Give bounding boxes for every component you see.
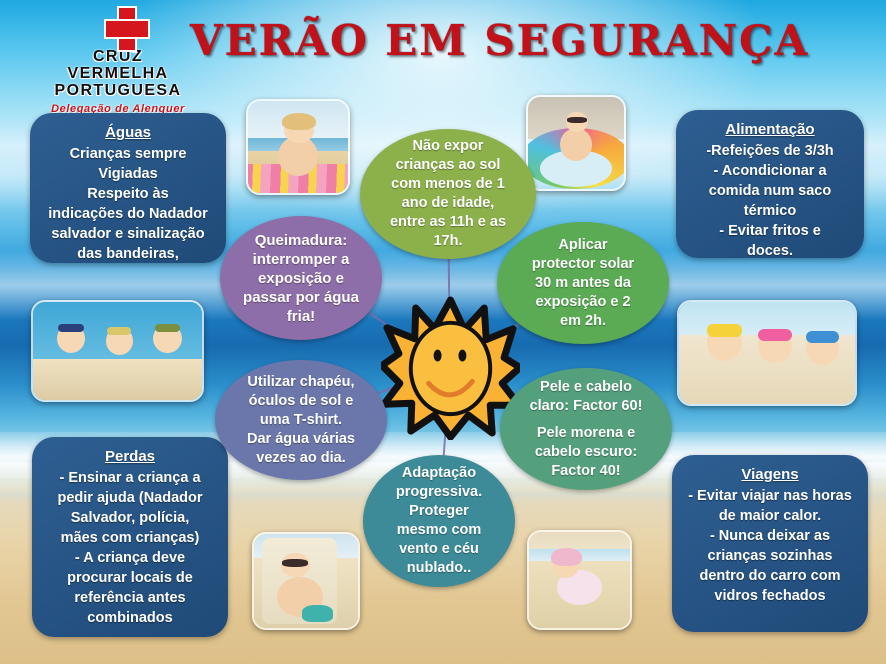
oval-pele-line-5: Factor 40! bbox=[530, 462, 643, 481]
photo-baby-in-pool bbox=[526, 95, 626, 191]
panel-aguas-line-5: salvador e sinalização bbox=[42, 224, 214, 244]
oval-adaptacao: Adaptação progressiva. Proteger mesmo co… bbox=[363, 455, 515, 587]
panel-alimentacao-title: Alimentação bbox=[688, 120, 852, 140]
oval-queimadura: Queimadura: interromper a exposição e pa… bbox=[220, 216, 382, 340]
oval-adaptacao-line-4: mesmo com bbox=[396, 521, 482, 540]
oval-chapeu-line-2: óculos de sol e bbox=[247, 392, 355, 411]
photo-girl-on-lounger bbox=[252, 532, 360, 630]
red-cross-icon bbox=[104, 6, 146, 48]
oval-aplicar-line-2: protector solar bbox=[532, 255, 634, 274]
red-cross-icon-wrap bbox=[18, 6, 218, 50]
oval-adaptacao-line-2: progressiva. bbox=[396, 483, 482, 502]
oval-pele-cabelo: Pele e cabelo claro: Factor 60! Pele mor… bbox=[500, 368, 672, 490]
oval-queimadura-line-1: Queimadura: bbox=[243, 231, 359, 250]
poster-canvas: CRUZ VERMELHA PORTUGUESA Delegação de Al… bbox=[0, 0, 886, 664]
oval-queimadura-line-4: passar por água bbox=[243, 288, 359, 307]
oval-nao-expor-line-5: entre as 11h e as bbox=[390, 213, 506, 232]
panel-perdas-line-5: - A criança deve bbox=[44, 548, 216, 568]
oval-nao-expor-line-1: Não expor bbox=[390, 137, 506, 156]
oval-aplicar-line-1: Aplicar bbox=[532, 236, 634, 255]
oval-chapeu-oculos: Utilizar chapéu, óculos de sol e uma T-s… bbox=[215, 360, 387, 480]
panel-perdas-line-3: Salvador, polícia, bbox=[44, 508, 216, 528]
panel-alimentacao-line-5: - Evitar fritos e bbox=[688, 221, 852, 241]
oval-adaptacao-line-6: nublado.. bbox=[396, 559, 482, 578]
panel-aguas: Águas Crianças sempre Vigiadas Respeito … bbox=[30, 113, 226, 263]
oval-pele-spacer bbox=[530, 416, 643, 424]
panel-perdas-line-1: - Ensinar a criança a bbox=[44, 468, 216, 488]
panel-viagens-line-4: crianças sozinhas bbox=[684, 546, 856, 566]
oval-chapeu-line-1: Utilizar chapéu, bbox=[247, 373, 355, 392]
cruz-vermelha-portuguesa-logo: CRUZ VERMELHA PORTUGUESA Delegação de Al… bbox=[18, 6, 218, 106]
oval-nao-expor-line-3: com menos de 1 bbox=[390, 175, 506, 194]
oval-adaptacao-line-3: Proteger bbox=[396, 502, 482, 521]
panel-viagens: Viagens - Evitar viajar nas horas de mai… bbox=[672, 455, 868, 632]
panel-viagens-line-1: - Evitar viajar nas horas bbox=[684, 486, 856, 506]
panel-alimentacao-line-3: comida num saco bbox=[688, 181, 852, 201]
oval-queimadura-line-5: fria! bbox=[243, 307, 359, 326]
panel-alimentacao-line-6: doces. bbox=[688, 241, 852, 261]
photo-kids-at-pool-edge bbox=[31, 300, 204, 402]
panel-viagens-line-5: dentro do carro com bbox=[684, 566, 856, 586]
oval-adaptacao-line-5: vento e céu bbox=[396, 540, 482, 559]
photo-girl-playing-sand bbox=[527, 530, 632, 630]
panel-alimentacao-line-1: -Refeições de 3/3h bbox=[688, 141, 852, 161]
panel-perdas-line-8: combinados bbox=[44, 608, 216, 628]
oval-pele-line-2: claro: Factor 60! bbox=[530, 397, 643, 416]
panel-aguas-title: Águas bbox=[42, 123, 214, 143]
panel-aguas-line-6: das bandeiras, bbox=[42, 244, 214, 264]
oval-pele-line-3: Pele morena e bbox=[530, 424, 643, 443]
oval-nao-expor-line-2: crianças ao sol bbox=[390, 156, 506, 175]
panel-perdas-line-4: mães com crianças) bbox=[44, 528, 216, 548]
poster-title: VERÃO EM SEGURANÇA bbox=[190, 16, 710, 65]
oval-adaptacao-line-1: Adaptação bbox=[396, 464, 482, 483]
oval-pele-line-4: cabelo escuro: bbox=[530, 443, 643, 462]
panel-alimentacao-line-2: - Acondicionar a bbox=[688, 161, 852, 181]
panel-perdas: Perdas - Ensinar a criança a pedir ajuda… bbox=[32, 437, 228, 637]
panel-viagens-line-2: de maior calor. bbox=[684, 506, 856, 526]
logo-line-2: VERMELHA bbox=[18, 65, 218, 82]
oval-chapeu-line-5: vezes ao dia. bbox=[247, 449, 355, 468]
panel-aguas-line-4: indicações do Nadador bbox=[42, 204, 214, 224]
panel-viagens-line-3: - Nunca deixar as bbox=[684, 526, 856, 546]
panel-aguas-line-2: Vigiadas bbox=[42, 164, 214, 184]
panel-aguas-line-3: Respeito às bbox=[42, 184, 214, 204]
oval-queimadura-line-3: exposição e bbox=[243, 269, 359, 288]
logo-line-3: PORTUGUESA bbox=[18, 82, 218, 99]
oval-nao-expor-line-6: 17h. bbox=[390, 232, 506, 251]
smiling-sun-icon bbox=[381, 296, 520, 440]
panel-viagens-line-6: vidros fechados bbox=[684, 586, 856, 606]
oval-nao-expor-line-4: ano de idade, bbox=[390, 194, 506, 213]
panel-perdas-line-2: pedir ajuda (Nadador bbox=[44, 488, 216, 508]
panel-perdas-title: Perdas bbox=[44, 447, 216, 467]
oval-aplicar-line-5: em 2h. bbox=[532, 312, 634, 331]
oval-aplicar-line-4: exposição e 2 bbox=[532, 293, 634, 312]
oval-aplicar-protector: Aplicar protector solar 30 m antes da ex… bbox=[497, 222, 669, 344]
panel-perdas-line-6: procurar locais de bbox=[44, 568, 216, 588]
panel-alimentacao: Alimentação -Refeições de 3/3h - Acondic… bbox=[676, 110, 864, 258]
oval-queimadura-line-2: interromper a bbox=[243, 250, 359, 269]
photo-baby-on-towel bbox=[246, 99, 350, 195]
oval-nao-expor: Não expor crianças ao sol com menos de 1… bbox=[360, 129, 536, 259]
panel-perdas-line-7: referência antes bbox=[44, 588, 216, 608]
photo-kids-with-snorkels bbox=[677, 300, 857, 406]
panel-aguas-line-1: Crianças sempre bbox=[42, 144, 214, 164]
oval-aplicar-line-3: 30 m antes da bbox=[532, 274, 634, 293]
panel-viagens-title: Viagens bbox=[684, 465, 856, 485]
oval-pele-line-1: Pele e cabelo bbox=[530, 378, 643, 397]
oval-chapeu-line-3: uma T-shirt. bbox=[247, 411, 355, 430]
oval-chapeu-line-4: Dar água várias bbox=[247, 430, 355, 449]
panel-alimentacao-line-4: térmico bbox=[688, 201, 852, 221]
